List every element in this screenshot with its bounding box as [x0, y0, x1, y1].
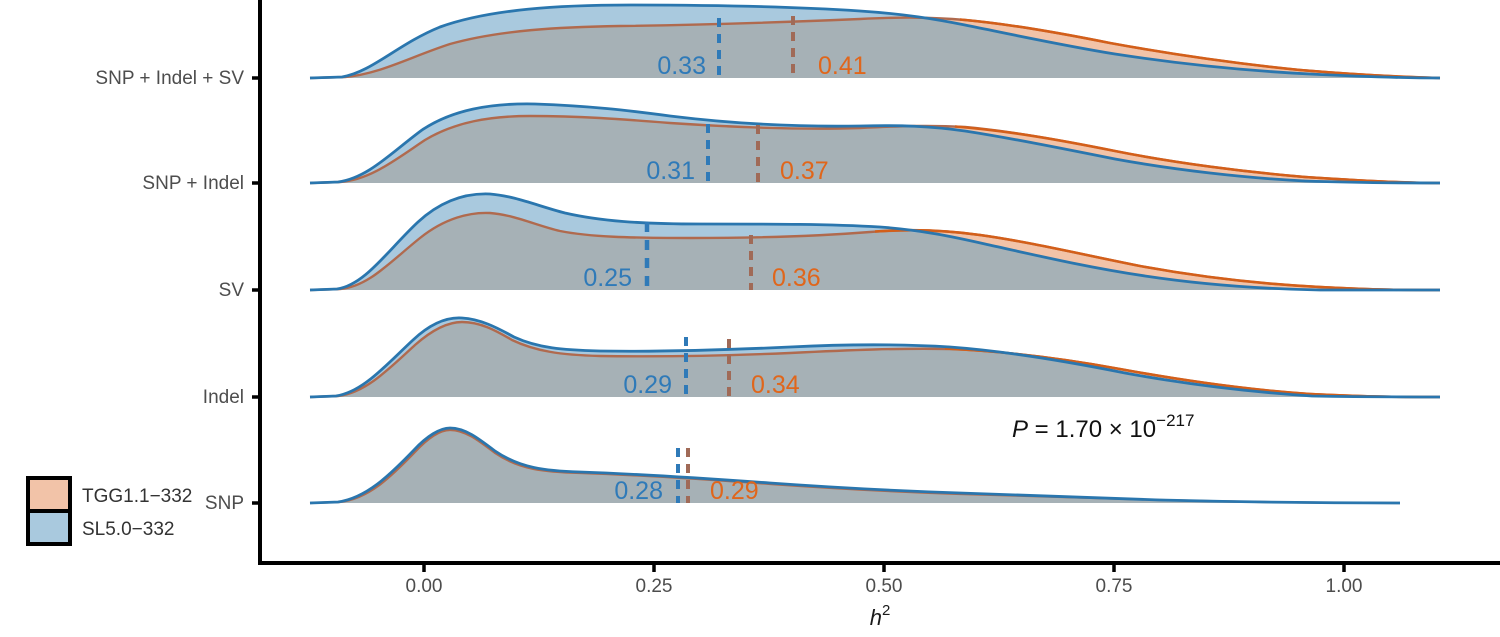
median-label-orange-row0: 0.41 — [818, 52, 867, 80]
median-label-blue-row0: 0.33 — [657, 52, 706, 80]
x-tick-label-2: 0.50 — [866, 576, 903, 597]
ridgeline-chart: 0.33 0.41 0.31 0.37 0.25 0.36 — [0, 0, 1500, 637]
p-times-symbol: × — [1109, 416, 1123, 443]
x-axis-title: h2 — [870, 602, 891, 630]
legend-label-tgg: TGG1.1−332 — [82, 486, 192, 507]
y-tick-label-snp-indel: SNP + Indel — [142, 173, 244, 194]
x-tick-label-1: 0.25 — [636, 576, 673, 597]
density-overlap-row2 — [310, 213, 1440, 290]
median-label-blue-row2: 0.25 — [583, 264, 632, 292]
x-axis-title-exponent: 2 — [882, 602, 890, 619]
y-tick-label-sv: SV — [219, 280, 245, 301]
ridge-row-snp-indel — [310, 104, 1440, 183]
p-symbol: P — [1012, 416, 1028, 443]
plot-svg: 0.33 0.41 0.31 0.37 0.25 0.36 — [0, 0, 1500, 637]
legend: TGG1.1−332 SL5.0−332 — [28, 478, 192, 544]
ridge-row-snp — [310, 428, 1440, 503]
median-label-orange-row2: 0.36 — [772, 264, 821, 292]
ridge-row-indel — [310, 318, 1440, 397]
x-tick-label-4: 1.00 — [1326, 576, 1363, 597]
median-label-blue-row4: 0.28 — [614, 477, 663, 505]
y-tick-label-snp-indel-sv: SNP + Indel + SV — [95, 68, 244, 89]
legend-swatch-tgg[interactable] — [28, 478, 70, 511]
x-tick-label-0: 0.00 — [406, 576, 443, 597]
median-label-blue-row1: 0.31 — [646, 157, 695, 185]
y-tick-label-indel: Indel — [203, 387, 244, 408]
density-overlap-row3 — [310, 322, 1440, 397]
median-label-orange-row1: 0.37 — [780, 157, 829, 185]
median-label-orange-row3: 0.34 — [751, 371, 800, 399]
p-equals-value: = 1.70 — [1028, 416, 1109, 443]
x-axis-title-base: h — [870, 605, 882, 630]
ridge-row-snp-indel-sv — [310, 5, 1440, 78]
p-exponent: −217 — [1156, 411, 1194, 430]
ridge-row-sv — [310, 194, 1440, 290]
x-tick-label-3: 0.75 — [1096, 576, 1133, 597]
p-value-annotation: P = 1.70 × 10−217 — [1012, 411, 1194, 443]
legend-label-sl5: SL5.0−332 — [82, 519, 174, 540]
median-label-orange-row4: 0.29 — [710, 477, 759, 505]
median-label-blue-row3: 0.29 — [623, 371, 672, 399]
y-tick-label-snp: SNP — [205, 493, 244, 514]
p-base: 10 — [1123, 416, 1156, 443]
legend-swatch-sl5[interactable] — [28, 511, 70, 544]
